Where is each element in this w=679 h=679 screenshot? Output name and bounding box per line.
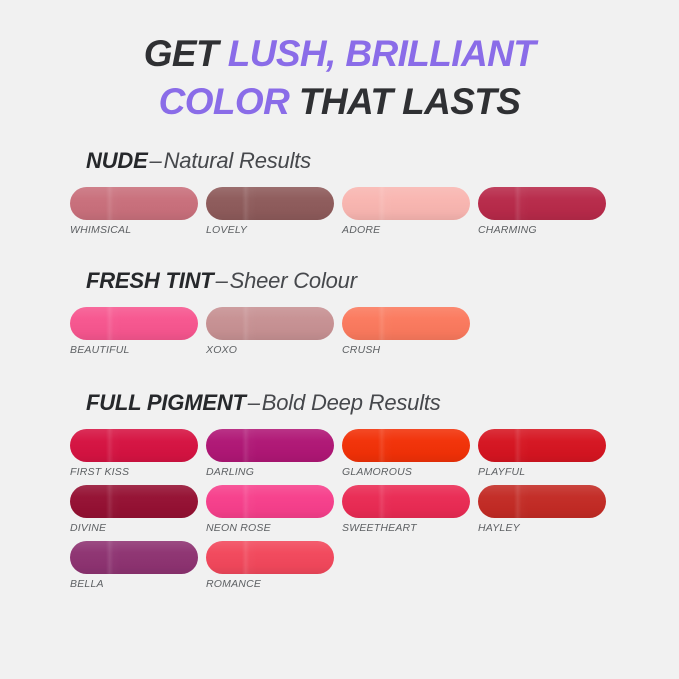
swatch-row: DIVINE NEON ROSE SWEETHEART HAYLEY [70,485,679,534]
swatch-cell-beautiful[interactable]: BEAUTIFUL [70,307,198,356]
swatch-cell-darling[interactable]: DARLING [206,429,334,478]
section-description-fresh-tint: Sheer Colour [230,268,357,293]
swatch-romance[interactable] [206,541,334,574]
swatch-label-beautiful: BEAUTIFUL [70,344,198,356]
page-title-line-1: GET LUSH, BRILLIANT [0,30,679,78]
swatch-label-romance: ROMANCE [206,578,334,590]
section-name-nude: NUDE [86,148,148,173]
section-name-fresh-tint: FRESH TINT [86,268,214,293]
swatch-cell-xoxo[interactable]: XOXO [206,307,334,356]
section-header-full-pigment: FULL PIGMENT–Bold Deep Results [70,390,679,416]
swatch-cell-lovely[interactable]: LOVELY [206,187,334,236]
swatch-sections: NUDE–Natural Results WHIMSICAL LOVELY AD… [0,148,679,590]
swatch-whimsical[interactable] [70,187,198,220]
swatch-row: FIRST KISS DARLING GLAMOROUS PLAYFUL [70,429,679,478]
swatch-label-darling: DARLING [206,466,334,478]
swatch-cell-sweetheart[interactable]: SWEETHEART [342,485,470,534]
swatch-cell-playful[interactable]: PLAYFUL [478,429,606,478]
section-fresh-tint: FRESH TINT–Sheer Colour BEAUTIFUL XOXO C… [70,268,679,356]
swatch-label-glamorous: GLAMOROUS [342,466,470,478]
swatch-divine[interactable] [70,485,198,518]
swatch-cell-glamorous[interactable]: GLAMOROUS [342,429,470,478]
page-title: GET LUSH, BRILLIANT COLOR THAT LASTS [0,0,679,126]
swatch-cell-romance[interactable]: ROMANCE [206,541,334,590]
section-description-full-pigment: Bold Deep Results [262,390,441,415]
swatch-label-charming: CHARMING [478,224,606,236]
swatch-chart-page: GET LUSH, BRILLIANT COLOR THAT LASTS NUD… [0,0,679,679]
swatch-cell-hayley[interactable]: HAYLEY [478,485,606,534]
swatch-label-playful: PLAYFUL [478,466,606,478]
section-dash-full-pigment: – [246,390,262,415]
page-title-lush-brilliant: LUSH, BRILLIANT [228,33,536,74]
page-title-that-lasts: THAT LASTS [289,81,520,122]
swatch-label-xoxo: XOXO [206,344,334,356]
section-dash-fresh-tint: – [214,268,230,293]
swatch-cell-first-kiss[interactable]: FIRST KISS [70,429,198,478]
swatch-sweetheart[interactable] [342,485,470,518]
swatch-cell-bella[interactable]: BELLA [70,541,198,590]
swatch-xoxo[interactable] [206,307,334,340]
swatch-row: BEAUTIFUL XOXO CRUSH [70,307,679,356]
swatch-neon-rose[interactable] [206,485,334,518]
swatch-glamorous[interactable] [342,429,470,462]
page-title-line-2: COLOR THAT LASTS [0,78,679,126]
section-header-nude: NUDE–Natural Results [70,148,679,174]
page-title-get: GET [144,33,228,74]
swatch-adore[interactable] [342,187,470,220]
swatch-label-bella: BELLA [70,578,198,590]
swatch-first-kiss[interactable] [70,429,198,462]
swatch-cell-adore[interactable]: ADORE [342,187,470,236]
swatch-label-first-kiss: FIRST KISS [70,466,198,478]
section-description-nude: Natural Results [164,148,311,173]
section-full-pigment: FULL PIGMENT–Bold Deep Results FIRST KIS… [70,390,679,590]
section-name-full-pigment: FULL PIGMENT [86,390,246,415]
swatch-row: WHIMSICAL LOVELY ADORE CHARMING [70,187,679,236]
swatch-label-sweetheart: SWEETHEART [342,522,470,534]
swatch-playful[interactable] [478,429,606,462]
swatch-cell-divine[interactable]: DIVINE [70,485,198,534]
swatch-label-hayley: HAYLEY [478,522,606,534]
swatch-hayley[interactable] [478,485,606,518]
section-header-fresh-tint: FRESH TINT–Sheer Colour [70,268,679,294]
swatch-beautiful[interactable] [70,307,198,340]
swatch-label-adore: ADORE [342,224,470,236]
swatch-cell-neon-rose[interactable]: NEON ROSE [206,485,334,534]
swatch-label-crush: CRUSH [342,344,470,356]
swatch-label-whimsical: WHIMSICAL [70,224,198,236]
swatch-label-divine: DIVINE [70,522,198,534]
swatch-bella[interactable] [70,541,198,574]
swatch-row: BELLA ROMANCE [70,541,679,590]
swatch-cell-charming[interactable]: CHARMING [478,187,606,236]
swatch-cell-whimsical[interactable]: WHIMSICAL [70,187,198,236]
section-dash-nude: – [148,148,164,173]
swatch-darling[interactable] [206,429,334,462]
swatch-lovely[interactable] [206,187,334,220]
swatch-charming[interactable] [478,187,606,220]
page-title-color: COLOR [159,81,290,122]
swatch-cell-crush[interactable]: CRUSH [342,307,470,356]
swatch-crush[interactable] [342,307,470,340]
swatch-label-lovely: LOVELY [206,224,334,236]
section-nude: NUDE–Natural Results WHIMSICAL LOVELY AD… [70,148,679,236]
swatch-label-neon-rose: NEON ROSE [206,522,334,534]
